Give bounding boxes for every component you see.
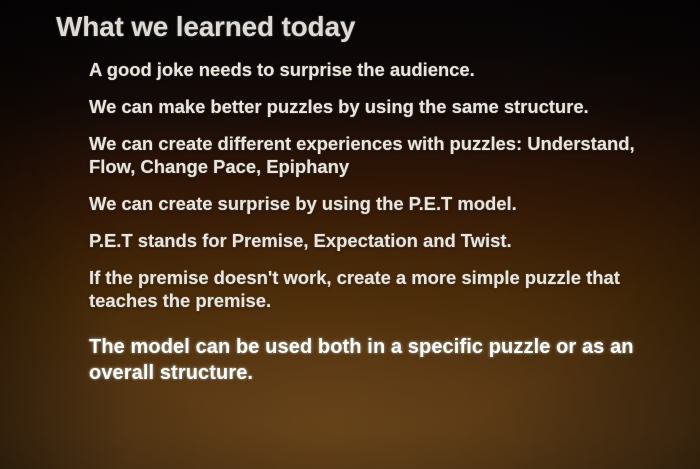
slide-bullet: We can create different experiences with… — [89, 132, 669, 178]
slide-bullet: We can make better puzzles by using the … — [89, 95, 669, 118]
slide-bullet: A good joke needs to surprise the audien… — [89, 58, 669, 81]
slide-title: What we learned today — [56, 11, 355, 43]
slide-bullet-emphasis: The model can be used both in a specific… — [89, 334, 669, 386]
slide-content: What we learned today A good joke needs … — [0, 0, 700, 469]
presentation-slide: What we learned today A good joke needs … — [0, 0, 700, 469]
slide-bullet-list: A good joke needs to surprise the audien… — [89, 58, 669, 386]
slide-bullet: We can create surprise by using the P.E.… — [89, 192, 669, 215]
slide-bullet: P.E.T stands for Premise, Expectation an… — [89, 229, 669, 252]
slide-bullet: If the premise doesn't work, create a mo… — [89, 266, 669, 312]
